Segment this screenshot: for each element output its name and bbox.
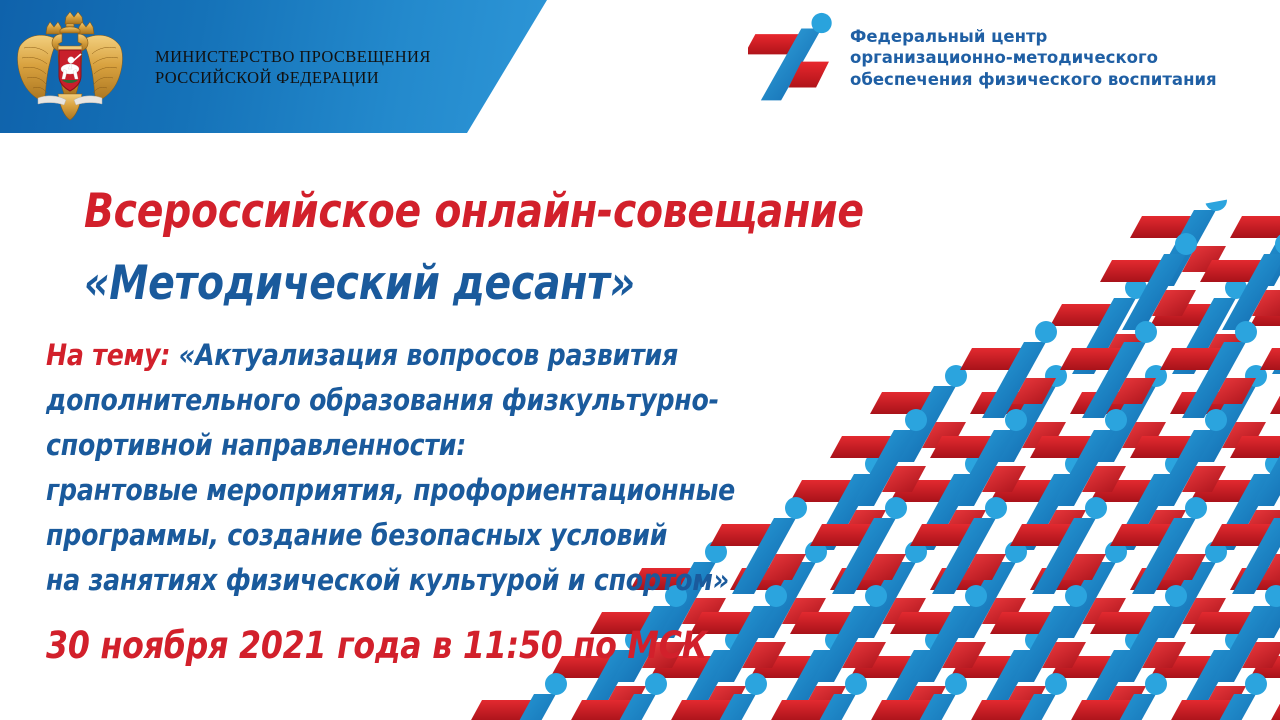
topic-line-5: программы, создание безопасных условий [46, 513, 768, 558]
topic-lead-label: На тему: [46, 338, 170, 372]
page-subtitle: «Методический десант» [84, 258, 635, 310]
topic-line-1: На тему: «Актуализация вопросов развития [46, 333, 768, 378]
topic-line-4: грантовые мероприятия, профориентационны… [46, 468, 768, 513]
presentation-slide: МИНИСТЕРСТВО ПРОСВЕЩЕНИЯ РОССИЙСКОЙ ФЕДЕ… [0, 0, 1280, 720]
topic-line-2: дополнительного образования физкультурно… [46, 378, 768, 423]
event-datetime: 30 ноября 2021 года в 11:50 по МСК [46, 624, 707, 668]
topic-block: На тему: «Актуализация вопросов развития… [46, 333, 806, 603]
topic-line-3: спортивной направленности: [46, 423, 768, 468]
federal-center-name: Федеральный центр организационно-методич… [850, 26, 1217, 91]
page-title: Всероссийское онлайн-совещание [84, 186, 864, 238]
slide-content: Всероссийское онлайн-совещание «Методиче… [0, 0, 820, 720]
topic-line-6: на занятиях физической культурой и спорт… [46, 558, 768, 603]
topic-line-1-rest: «Актуализация вопросов развития [170, 338, 678, 372]
